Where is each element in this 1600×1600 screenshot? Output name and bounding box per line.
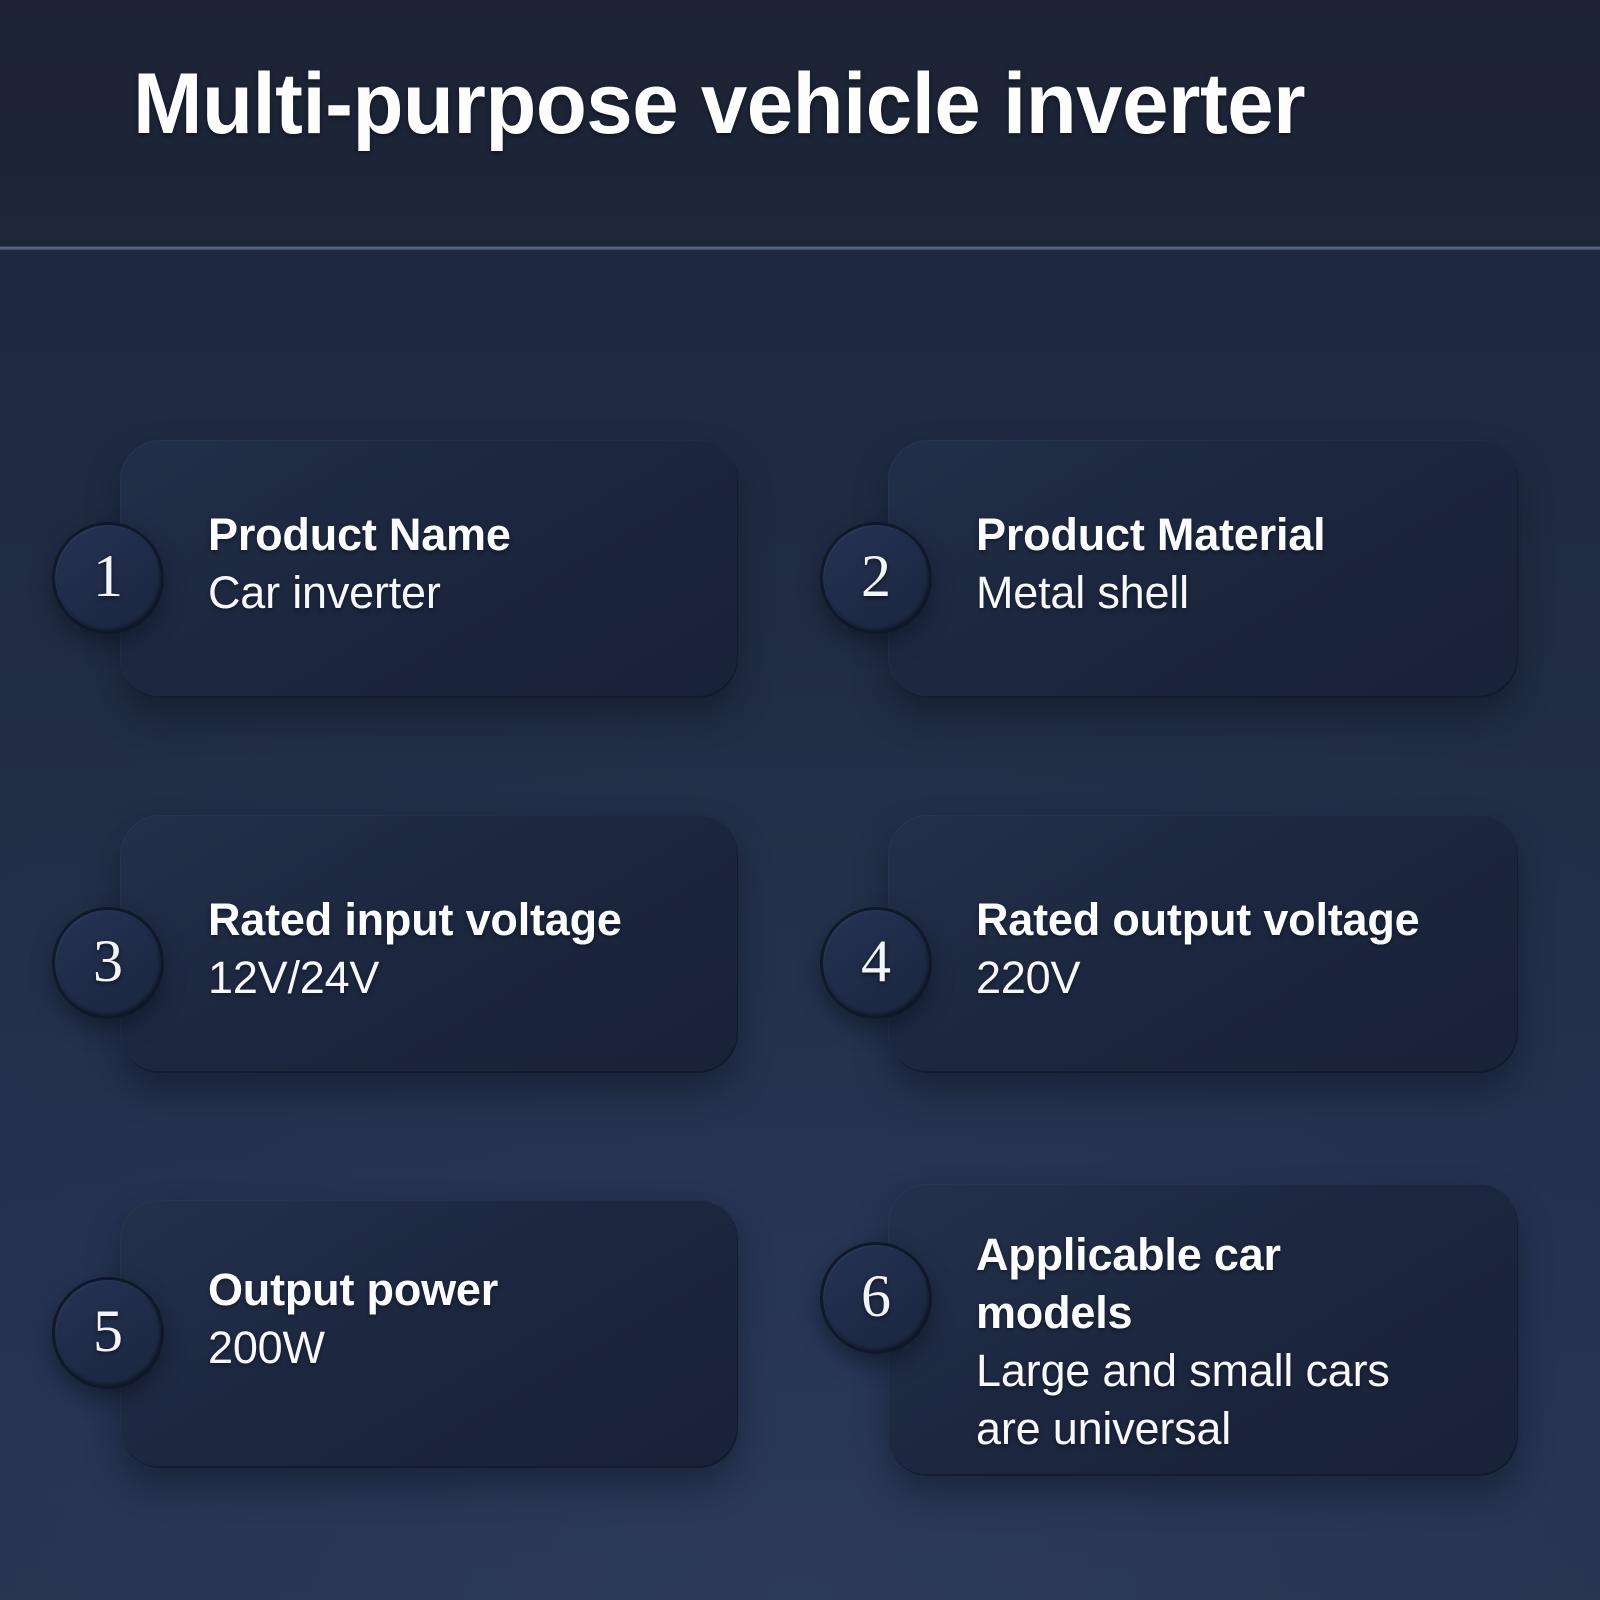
spec-value: 220V: [976, 949, 1420, 1007]
spec-label: Rated output voltage: [976, 891, 1420, 949]
badge-number-label: 3: [93, 931, 123, 991]
spec-item-output-power: 5 Output power 200W: [52, 1255, 498, 1389]
spec-text-block: Product Material Metal shell: [976, 500, 1325, 622]
spec-value: Large and small cars are universal: [976, 1342, 1446, 1458]
spec-text-block: Output power 200W: [208, 1255, 498, 1377]
spec-value: 200W: [208, 1319, 498, 1377]
badge-number-label: 5: [93, 1301, 123, 1361]
spec-label: Output power: [208, 1261, 498, 1319]
number-badge-4: 4: [820, 907, 932, 1019]
badge-number-label: 4: [861, 931, 891, 991]
spec-value: Metal shell: [976, 564, 1325, 622]
number-badge-5: 5: [52, 1277, 164, 1389]
spec-item-product-name: 1 Product Name Car inverter: [52, 500, 511, 634]
badge-number-label: 2: [861, 546, 891, 606]
spec-item-rated-input-voltage: 3 Rated input voltage 12V/24V: [52, 885, 622, 1019]
spec-label: Product Name: [208, 506, 511, 564]
number-badge-6: 6: [820, 1242, 932, 1354]
spec-grid: 1 Product Name Car inverter 2 Product Ma…: [0, 248, 1600, 1600]
badge-number-label: 6: [861, 1266, 891, 1326]
spec-text-block: Product Name Car inverter: [208, 500, 511, 622]
spec-item-rated-output-voltage: 4 Rated output voltage 220V: [820, 885, 1420, 1019]
spec-label: Rated input voltage: [208, 891, 622, 949]
spec-value: 12V/24V: [208, 949, 622, 1007]
header-band: Multi-purpose vehicle inverter: [0, 0, 1600, 248]
page-title: Multi-purpose vehicle inverter: [133, 52, 1305, 156]
number-badge-2: 2: [820, 522, 932, 634]
spec-item-product-material: 2 Product Material Metal shell: [820, 500, 1325, 634]
spec-item-applicable-car-models: 6 Applicable car models Large and small …: [820, 1220, 1446, 1458]
number-badge-1: 1: [52, 522, 164, 634]
spec-label: Product Material: [976, 506, 1325, 564]
spec-value: Car inverter: [208, 564, 511, 622]
spec-text-block: Rated input voltage 12V/24V: [208, 885, 622, 1007]
badge-number-label: 1: [93, 546, 123, 606]
spec-sheet-page: Multi-purpose vehicle inverter 1 Product…: [0, 0, 1600, 1600]
spec-text-block: Rated output voltage 220V: [976, 885, 1420, 1007]
spec-label: Applicable car models: [976, 1226, 1446, 1342]
number-badge-3: 3: [52, 907, 164, 1019]
spec-text-block: Applicable car models Large and small ca…: [976, 1220, 1446, 1458]
